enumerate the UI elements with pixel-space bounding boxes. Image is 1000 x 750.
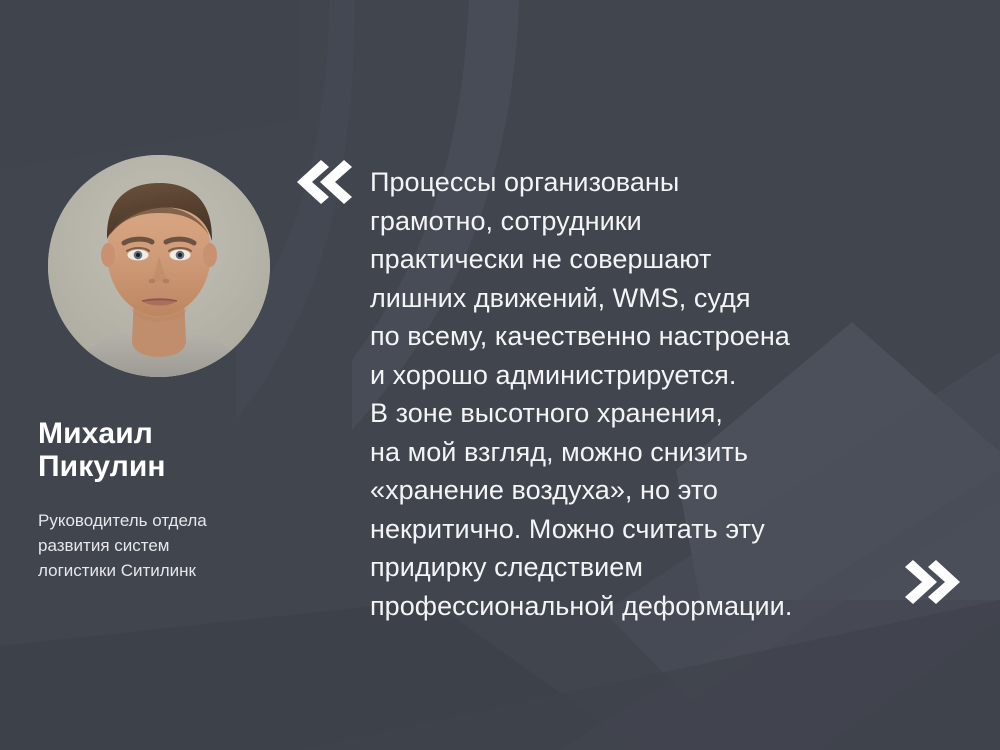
avatar <box>48 155 270 377</box>
quote-line-4: лишних движений, WMS, судя <box>370 279 910 318</box>
quote-line-10: некритично. Можно считать эту <box>370 510 910 549</box>
person-role-line-3: логистики Ситилинк <box>38 558 306 583</box>
person-role: Руководитель отдела развития систем логи… <box>38 508 306 583</box>
quote-line-6: и хорошо администрируется. <box>370 356 910 395</box>
quote-line-3: практически не совершают <box>370 240 910 279</box>
quote-line-11: придирку следствием <box>370 548 910 587</box>
person-role-line-2: развития систем <box>38 533 306 558</box>
background-tint-top-left <box>0 0 300 170</box>
person-name-line-1: Михаил <box>38 417 298 450</box>
quote-line-7: В зоне высотного хранения, <box>370 394 910 433</box>
quote-close-icon <box>905 558 961 606</box>
person-name-line-2: Пикулин <box>38 450 298 483</box>
testimonial-slide: Михаил Пикулин Руководитель отдела разви… <box>0 0 1000 750</box>
quote-text: Процессы организованы грамотно, сотрудни… <box>370 163 910 625</box>
quote-line-1: Процессы организованы <box>370 163 910 202</box>
quote-line-12: профессиональной деформации. <box>370 587 910 626</box>
person-role-line-1: Руководитель отдела <box>38 508 306 533</box>
quote-line-2: грамотно, сотрудники <box>370 202 910 241</box>
person-name: Михаил Пикулин <box>38 417 298 483</box>
quote-open-icon <box>296 158 352 206</box>
portrait-photo <box>48 155 270 377</box>
quote-line-9: «хранение воздуха», но это <box>370 471 910 510</box>
quote-line-5: по всему, качественно настроена <box>370 317 910 356</box>
quote-line-8: на мой взгляд, можно снизить <box>370 433 910 472</box>
